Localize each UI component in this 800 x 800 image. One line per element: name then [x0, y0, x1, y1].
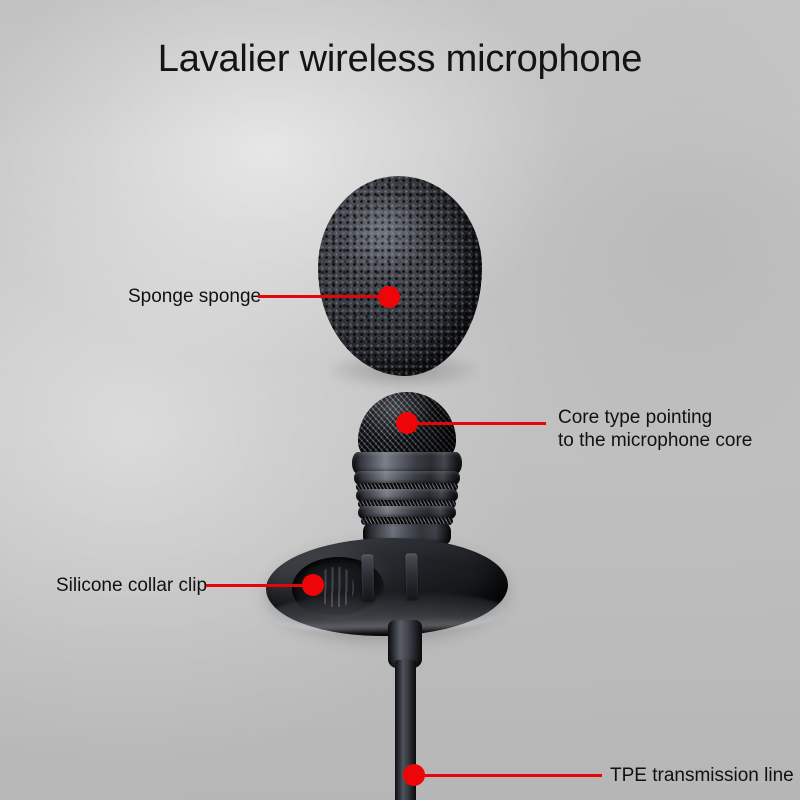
leader-line-clip — [206, 584, 316, 587]
callout-line: Sponge sponge — [128, 285, 261, 308]
leader-dot-clip — [302, 574, 324, 596]
callout-label-core: Core type pointing to the microphone cor… — [558, 406, 752, 452]
microphone-illustration — [0, 0, 800, 800]
callout-line: Core type pointing — [558, 406, 752, 429]
leader-dot-sponge — [378, 286, 400, 308]
product-infographic: Lavalier wireless microphone — [0, 0, 800, 800]
callout-line: to the microphone core — [558, 429, 752, 452]
leader-line-cable — [416, 774, 602, 777]
clip-lug-right — [405, 553, 418, 599]
sponge-windscreen — [318, 176, 482, 376]
leader-dot-core — [396, 412, 418, 434]
leader-line-core — [412, 422, 546, 425]
leader-dot-cable — [403, 764, 425, 786]
clip-lug-left — [361, 554, 374, 600]
callout-label-cable: TPE transmission line — [610, 764, 794, 787]
callout-label-clip: Silicone collar clip — [56, 574, 207, 597]
callout-line: TPE transmission line — [610, 764, 794, 787]
callout-label-sponge: Sponge sponge — [128, 285, 261, 308]
callout-line: Silicone collar clip — [56, 574, 207, 597]
sponge-highlight — [354, 202, 429, 270]
leader-line-sponge — [258, 295, 390, 298]
